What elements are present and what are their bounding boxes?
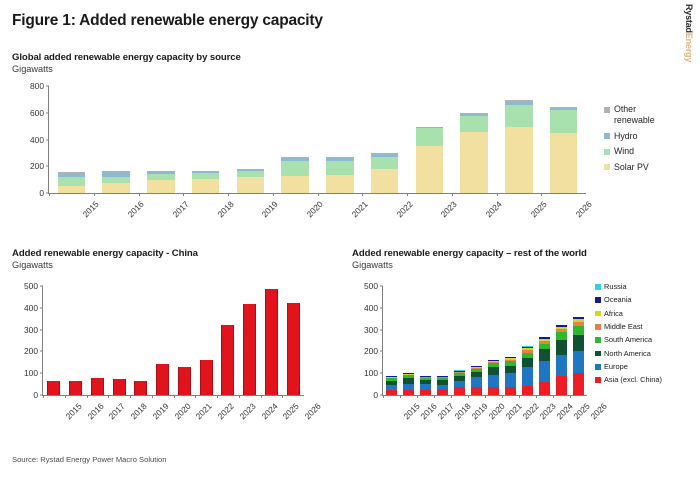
bar-column[interactable]	[200, 360, 213, 395]
bar-segment	[471, 377, 481, 387]
bar-column[interactable]	[550, 107, 578, 193]
x-axis-tick-label: 2022	[216, 401, 236, 421]
x-axis-tick-label: 2026	[573, 199, 593, 219]
bar-segment	[178, 367, 191, 395]
bar-column[interactable]	[147, 171, 175, 193]
bar-segment	[281, 161, 309, 176]
legend-label: South America	[604, 335, 652, 345]
bar-column[interactable]	[134, 381, 147, 395]
x-axis-tick-label: 2015	[81, 199, 101, 219]
y-axis-tick-mark	[380, 373, 383, 374]
bar-column[interactable]	[471, 366, 481, 395]
bar-segment	[573, 373, 583, 395]
bar-segment	[91, 378, 104, 395]
x-axis-tick-label: 2018	[129, 401, 149, 421]
bar-column[interactable]	[573, 317, 583, 395]
bar-segment	[326, 161, 354, 175]
x-axis-tick-mark	[451, 395, 452, 398]
y-axis-tick-mark	[40, 351, 43, 352]
bar-segment	[156, 364, 169, 395]
x-axis-tick-mark	[65, 395, 66, 398]
chart-title-china: Added renewable energy capacity - China	[12, 248, 342, 259]
chart-subtitle-china: Gigawatts	[12, 260, 342, 270]
legend-label: Asia (excl. China)	[604, 375, 662, 385]
page-title: Figure 1: Added renewable energy capacit…	[12, 12, 323, 30]
logo-brand-text: Rystad	[684, 4, 694, 33]
x-axis-tick-label: 2021	[194, 401, 214, 421]
chart-global-by-source: Global added renewable energy capacity b…	[12, 52, 688, 227]
bar-segment	[192, 179, 220, 193]
bar-segment	[102, 183, 130, 193]
bar-column[interactable]	[454, 370, 464, 395]
x-axis-tick-label: 2015	[63, 401, 83, 421]
bar-segment	[488, 375, 498, 387]
bar-column[interactable]	[102, 171, 130, 193]
bar-column[interactable]	[371, 153, 399, 193]
legend-item[interactable]: Oceania	[595, 295, 662, 305]
legend-item[interactable]: North America	[595, 349, 662, 359]
x-axis-tick-label: 2024	[259, 401, 279, 421]
bar-column[interactable]	[178, 367, 191, 395]
x-axis-tick-label: 2025	[571, 401, 591, 421]
figure-page: Figure 1: Added renewable energy capacit…	[0, 0, 700, 485]
x-axis-tick-mark	[139, 193, 140, 196]
bar-segment	[573, 326, 583, 335]
legend-label: Solar PV	[614, 162, 668, 173]
x-axis-tick-label: 2026	[303, 401, 323, 421]
x-axis-tick-mark	[553, 395, 554, 398]
x-axis-tick-mark	[318, 193, 319, 196]
bar-segment	[326, 175, 354, 193]
bar-column[interactable]	[47, 381, 60, 395]
x-axis-tick-label: 2016	[85, 401, 105, 421]
x-axis-tick-mark	[130, 395, 131, 398]
bar-segment	[505, 387, 515, 395]
legend-swatch	[595, 324, 601, 330]
x-axis-tick-label: 2019	[260, 199, 280, 219]
bar-column[interactable]	[58, 172, 86, 193]
x-axis-tick-label: 2016	[126, 199, 146, 219]
x-axis-tick-mark	[108, 395, 109, 398]
legend-swatch	[595, 311, 601, 317]
bar-segment	[550, 110, 578, 132]
bar-segment	[265, 289, 278, 395]
legend-item[interactable]: Hydro	[604, 131, 668, 142]
bar-column[interactable]	[522, 346, 532, 395]
x-axis-tick-mark	[239, 395, 240, 398]
bar-column[interactable]	[265, 289, 278, 395]
chart-subtitle-global: Gigawatts	[12, 64, 688, 74]
y-axis-tick-mark	[380, 329, 383, 330]
bar-column[interactable]	[237, 169, 265, 193]
bar-segment	[539, 382, 549, 395]
y-axis-tick-mark	[40, 329, 43, 330]
legend-global: Other renewableHydroWindSolar PV	[604, 104, 668, 174]
bar-column[interactable]	[91, 378, 104, 395]
x-axis-tick-label: 2023	[439, 199, 459, 219]
bar-segment	[420, 390, 430, 395]
y-axis-tick-mark	[40, 373, 43, 374]
bar-segment	[505, 373, 515, 387]
bar-segment	[403, 390, 413, 395]
legend-label: Africa	[604, 309, 623, 319]
bar-segment	[47, 381, 60, 395]
x-axis-tick-label: 2022	[520, 401, 540, 421]
bar-column[interactable]	[281, 157, 309, 193]
x-axis-tick-label: 2022	[394, 199, 414, 219]
bar-segment	[454, 387, 464, 395]
legend-swatch	[595, 377, 601, 383]
legend-swatch	[604, 133, 610, 139]
plot-area-global: 0200400600800201520162017201820192020202…	[48, 86, 586, 194]
bar-column[interactable]	[556, 325, 566, 395]
chart-subtitle-row: Gigawatts	[352, 260, 700, 270]
bar-column[interactable]	[326, 157, 354, 193]
legend-label: Oceania	[604, 295, 632, 305]
bar-column[interactable]	[243, 304, 256, 395]
y-axis-tick-mark	[46, 166, 49, 167]
bar-segment	[460, 132, 488, 193]
bar-segment	[573, 351, 583, 373]
legend-label: North America	[604, 349, 651, 359]
bar-column[interactable]	[386, 376, 396, 395]
legend-label: Europe	[604, 362, 628, 372]
bar-column[interactable]	[403, 373, 413, 395]
bar-column[interactable]	[69, 381, 82, 395]
bar-segment	[471, 387, 481, 395]
legend-item[interactable]: Other renewable	[604, 104, 668, 126]
x-axis-tick-label: 2018	[452, 401, 472, 421]
chart-china: Added renewable energy capacity - China …	[12, 248, 342, 443]
bar-segment	[113, 379, 126, 395]
chart-title-row: Added renewable energy capacity – rest o…	[352, 248, 700, 259]
legend-item[interactable]: Asia (excl. China)	[595, 375, 662, 385]
y-axis-tick-mark	[40, 286, 43, 287]
x-axis-tick-label: 2020	[486, 401, 506, 421]
legend-label: Other renewable	[614, 104, 668, 126]
legend-swatch	[604, 107, 610, 113]
legend-item[interactable]: Middle East	[595, 322, 662, 332]
x-axis-tick-mark	[468, 395, 469, 398]
legend-item[interactable]: Russia	[595, 282, 662, 292]
bar-column[interactable]	[416, 127, 444, 193]
x-axis-tick-mark	[541, 193, 542, 196]
x-axis-tick-mark	[383, 395, 384, 398]
x-axis-tick-mark	[519, 395, 520, 398]
x-axis-tick-label: 2017	[107, 401, 127, 421]
bar-column[interactable]	[539, 337, 549, 395]
bar-segment	[539, 361, 549, 382]
bar-segment	[371, 157, 399, 169]
y-axis-tick-mark	[380, 351, 383, 352]
bar-segment	[556, 332, 566, 340]
x-axis-tick-mark	[87, 395, 88, 398]
bar-segment	[221, 325, 234, 395]
bar-segment	[416, 128, 444, 146]
x-axis-tick-label: 2024	[554, 401, 574, 421]
plot-area-row: 0100200300400500201520162017201820192020…	[382, 286, 587, 396]
bar-column[interactable]	[437, 376, 447, 395]
x-axis-tick-mark	[502, 395, 503, 398]
legend-swatch	[595, 351, 601, 357]
legend-label: Hydro	[614, 131, 668, 142]
chart-title-global: Global added renewable energy capacity b…	[12, 52, 688, 63]
x-axis-tick-mark	[261, 395, 262, 398]
bar-segment	[281, 176, 309, 193]
bar-column[interactable]	[287, 303, 300, 395]
bar-segment	[556, 355, 566, 376]
bar-segment	[550, 133, 578, 193]
bar-segment	[147, 180, 175, 193]
bar-segment	[416, 146, 444, 193]
x-axis-tick-label: 2018	[215, 199, 235, 219]
legend-label: Middle East	[604, 322, 643, 332]
legend-swatch	[604, 164, 610, 170]
bar-segment	[505, 105, 533, 127]
bar-segment	[556, 340, 566, 355]
x-axis-tick-mark	[570, 395, 571, 398]
y-axis-tick-mark	[380, 307, 383, 308]
bar-segment	[573, 335, 583, 351]
x-axis-tick-label: 2023	[537, 401, 557, 421]
x-axis-tick-mark	[362, 193, 363, 196]
x-axis-tick-label: 2020	[305, 199, 325, 219]
x-axis-tick-label: 2019	[150, 401, 170, 421]
legend-swatch	[595, 337, 601, 343]
y-axis-tick-mark	[380, 286, 383, 287]
x-axis-tick-mark	[217, 395, 218, 398]
x-axis-tick-mark	[452, 193, 453, 196]
bar-segment	[134, 381, 147, 395]
legend-label: Wind	[614, 146, 668, 157]
x-axis-tick-mark	[282, 395, 283, 398]
x-axis-tick-mark	[497, 193, 498, 196]
x-axis-tick-mark	[152, 395, 153, 398]
bar-column[interactable]	[156, 364, 169, 395]
bar-column[interactable]	[460, 113, 488, 193]
bar-segment	[386, 390, 396, 395]
legend-swatch	[595, 297, 601, 303]
legend-item[interactable]: Solar PV	[604, 162, 668, 173]
x-axis-tick-label: 2015	[401, 401, 421, 421]
legend-swatch	[604, 149, 610, 155]
bar-segment	[243, 304, 256, 395]
bar-segment	[460, 116, 488, 132]
x-axis-tick-label: 2021	[503, 401, 523, 421]
bar-segment	[488, 367, 498, 375]
x-axis-tick-mark	[43, 395, 44, 398]
bar-segment	[505, 127, 533, 193]
bar-column[interactable]	[505, 357, 515, 395]
bar-column[interactable]	[505, 100, 533, 193]
x-axis-tick-label: 2019	[469, 401, 489, 421]
x-axis-tick-mark	[400, 395, 401, 398]
bar-column[interactable]	[113, 379, 126, 395]
legend-item[interactable]: Wind	[604, 146, 668, 157]
legend-swatch	[595, 284, 601, 290]
x-axis-tick-mark	[417, 395, 418, 398]
x-axis-tick-mark	[49, 193, 50, 196]
x-axis-tick-mark	[174, 395, 175, 398]
bar-segment	[488, 387, 498, 395]
x-axis-tick-label: 2016	[418, 401, 438, 421]
bar-segment	[287, 303, 300, 395]
plot-area-china: 0100200300400500201520162017201820192020…	[42, 286, 304, 396]
x-axis-tick-label: 2017	[170, 199, 190, 219]
bar-segment	[522, 358, 532, 367]
legend-rest-of-world: RussiaOceaniaAfricaMiddle EastSouth Amer…	[595, 282, 662, 385]
y-axis-tick-mark	[40, 307, 43, 308]
x-axis-tick-label: 2023	[237, 401, 257, 421]
bar-segment	[522, 367, 532, 386]
bar-segment	[371, 169, 399, 193]
legend-label: Russia	[604, 282, 627, 292]
legend-item[interactable]: South America	[595, 335, 662, 345]
x-axis-tick-mark	[536, 395, 537, 398]
x-axis-tick-mark	[407, 193, 408, 196]
legend-item[interactable]: Europe	[595, 362, 662, 372]
x-axis-tick-mark	[273, 193, 274, 196]
bar-column[interactable]	[192, 171, 220, 193]
x-axis-tick-label: 2020	[172, 401, 192, 421]
bar-segment	[69, 381, 82, 395]
x-axis-tick-mark	[485, 395, 486, 398]
bar-segment	[556, 376, 566, 395]
x-axis-tick-mark	[94, 193, 95, 196]
x-axis-tick-label: 2021	[349, 199, 369, 219]
x-axis-tick-label: 2024	[484, 199, 504, 219]
bar-column[interactable]	[420, 376, 430, 395]
bar-column[interactable]	[221, 325, 234, 395]
x-axis-tick-mark	[183, 193, 184, 196]
x-axis-tick-mark	[434, 395, 435, 398]
x-axis-tick-label: 2026	[588, 401, 608, 421]
y-axis-tick-mark	[46, 139, 49, 140]
bar-column[interactable]	[488, 360, 498, 395]
bar-segment	[237, 177, 265, 193]
legend-swatch	[595, 364, 601, 370]
x-axis-tick-mark	[195, 395, 196, 398]
x-axis-tick-mark	[228, 193, 229, 196]
x-axis-tick-label: 2025	[528, 199, 548, 219]
y-axis-tick-mark	[46, 86, 49, 87]
bar-segment	[522, 386, 532, 395]
bar-segment	[437, 390, 447, 395]
x-axis-tick-label: 2025	[281, 401, 301, 421]
x-axis-tick-label: 2017	[435, 401, 455, 421]
bar-segment	[539, 349, 549, 360]
legend-item[interactable]: Africa	[595, 309, 662, 319]
y-axis-tick-mark	[46, 112, 49, 113]
bar-segment	[58, 177, 86, 185]
source-note: Source: Rystad Energy Power Macro Soluti…	[12, 455, 166, 464]
chart-rest-of-world: Added renewable energy capacity – rest o…	[352, 248, 700, 443]
bar-segment	[58, 186, 86, 193]
bar-segment	[200, 360, 213, 395]
